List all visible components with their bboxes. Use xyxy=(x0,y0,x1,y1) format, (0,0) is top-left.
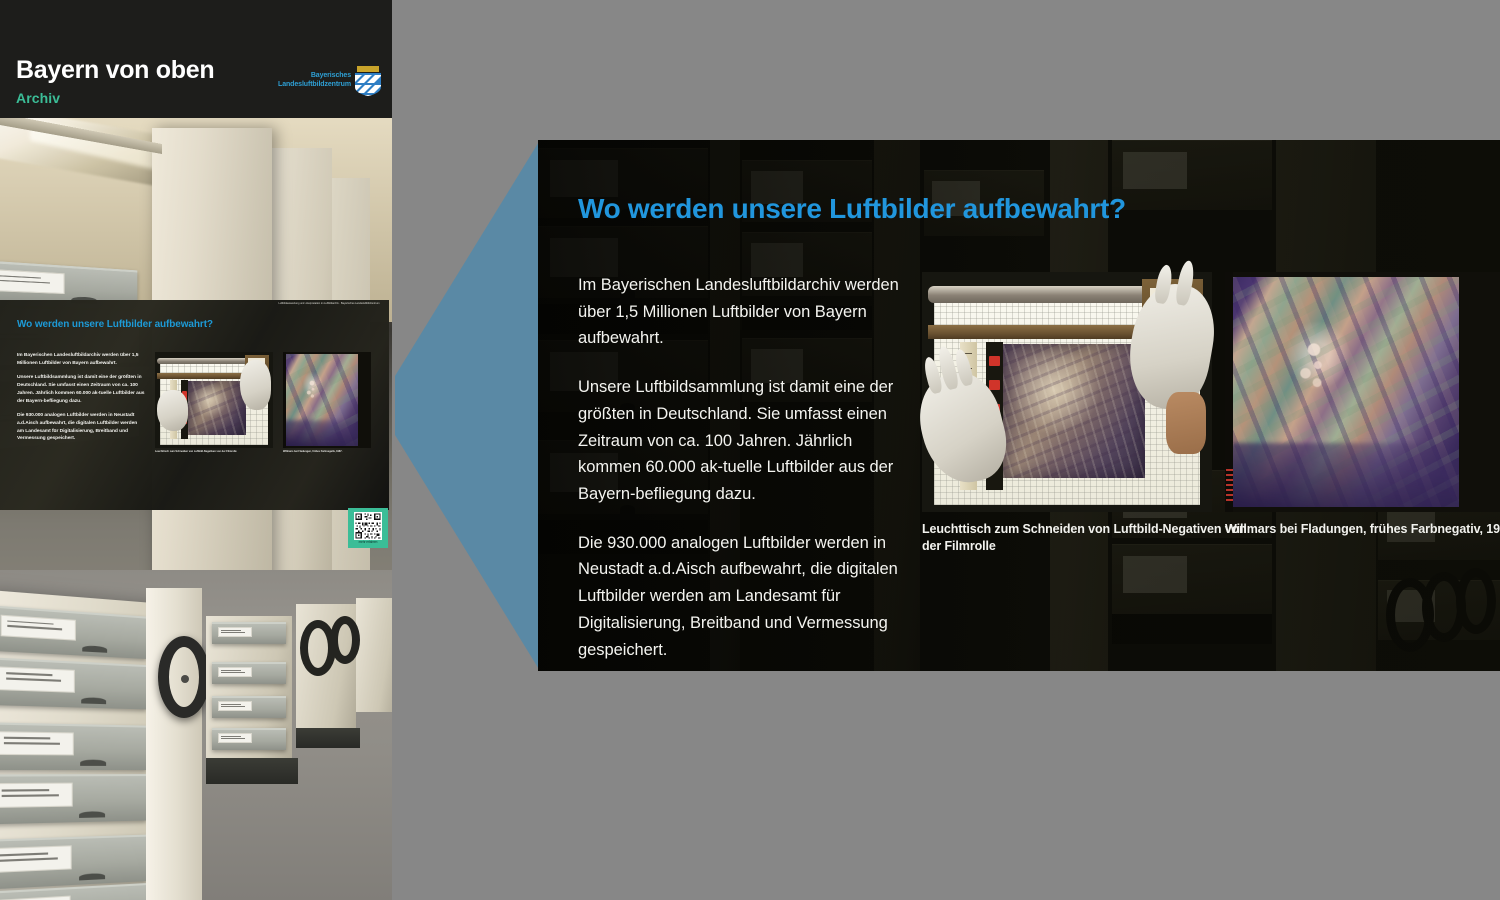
mini-figure-negative: Willmars bei Fladungen, frühes Farbnegat… xyxy=(283,352,371,448)
mini-paragraph: Die 930.000 analogen Luftbilder werden i… xyxy=(17,412,145,444)
qr-code-sticker[interactable]: mehr erfahren xyxy=(348,508,388,548)
figure-caption-negative: Willmars bei Fladungen, frühes Farbnegat… xyxy=(1225,521,1500,538)
mini-figure-caption: Willmars bei Fladungen, frühes Farbnegat… xyxy=(283,450,380,454)
forearm xyxy=(1166,392,1207,454)
mini-paragraph: Im Bayerischen Landesluftbildarchiv werd… xyxy=(17,352,145,368)
poster-panel: Luftbildauswertung und -interpretation i… xyxy=(0,0,392,900)
logo-text: Bayerisches Landesluftbildzentrum xyxy=(278,72,351,90)
mini-figure-caption: Leuchttisch zum Schneiden von Luftbild-N… xyxy=(155,450,285,454)
callout-arrow xyxy=(392,140,540,671)
callout-heading: Wo werden unsere Luftbilder aufbewahrt? xyxy=(578,195,1126,223)
figure-caption-lightbox: Leuchttisch zum Schneiden von Luftbild-N… xyxy=(922,521,1247,554)
figure-colour-negative: Willmars bei Fladungen, frühes Farbnegat… xyxy=(1225,272,1500,512)
shelving-end-panel xyxy=(146,588,202,900)
bavarian-coat-of-arms-icon xyxy=(355,66,381,96)
mobile-shelving-unit xyxy=(0,589,166,900)
mini-negative-image xyxy=(283,352,371,448)
figure-lightbox: Leuchttisch zum Schneiden von Luftbild-N… xyxy=(922,272,1212,512)
callout-paragraph-2: Unsere Luftbildsammlung ist damit eine d… xyxy=(578,374,913,508)
callout-body-text: Im Bayerischen Landesluftbildarchiv werd… xyxy=(578,272,913,663)
qr-sticker-caption: mehr erfahren xyxy=(352,541,384,544)
logo-line-1: Bayerisches xyxy=(278,72,351,81)
aerial-negative-on-lightbox xyxy=(1003,344,1145,478)
far-shelving-base xyxy=(206,758,298,784)
mini-panel-body: Im Bayerischen Landesluftbildarchiv werd… xyxy=(17,352,145,449)
film-edge-markings xyxy=(1226,469,1233,503)
mounted-info-panel: Luftbildauswertung und -interpretation i… xyxy=(0,300,389,510)
callout-panel: Wo werden unsere Luftbilder aufbewahrt? … xyxy=(538,140,1500,671)
qr-code-icon xyxy=(352,512,384,540)
village-cluster xyxy=(1281,323,1349,411)
far-shelving-base xyxy=(296,728,360,748)
callout-paragraph-3: Die 930.000 analogen Luftbilder werden i… xyxy=(578,530,913,664)
lightbox-photo xyxy=(922,272,1212,512)
mini-paragraph: Unsere Luftbildsammlung ist damit eine d… xyxy=(17,374,145,406)
logo-line-2: Landesluftbildzentrum xyxy=(278,81,351,90)
mini-panel-topline: Luftbildauswertung und -interpretation i… xyxy=(275,302,383,306)
poster-header: Bayern von oben Archiv Bayerisches Lande… xyxy=(0,0,392,118)
false-colour-aerial-image xyxy=(1231,277,1459,507)
mini-panel-heading: Wo werden unsere Luftbilder aufbewahrt? xyxy=(17,319,213,330)
far-shelving-unit xyxy=(356,598,392,712)
mini-lightbox-image xyxy=(155,352,273,448)
page-subtitle: Archiv xyxy=(16,91,60,105)
organisation-logo: Bayerisches Landesluftbildzentrum xyxy=(278,66,381,96)
mini-figure-lightbox: Leuchttisch zum Schneiden von Luftbild-N… xyxy=(155,352,273,448)
shelving-handwheel[interactable] xyxy=(158,636,210,718)
page-title: Bayern von oben xyxy=(16,58,214,83)
far-handwheel[interactable] xyxy=(330,616,360,664)
callout-paragraph-1: Im Bayerischen Landesluftbildarchiv werd… xyxy=(578,272,913,352)
colour-negative-photo xyxy=(1225,272,1500,512)
screenshot-canvas: Luftbildauswertung und -interpretation i… xyxy=(0,0,1500,900)
